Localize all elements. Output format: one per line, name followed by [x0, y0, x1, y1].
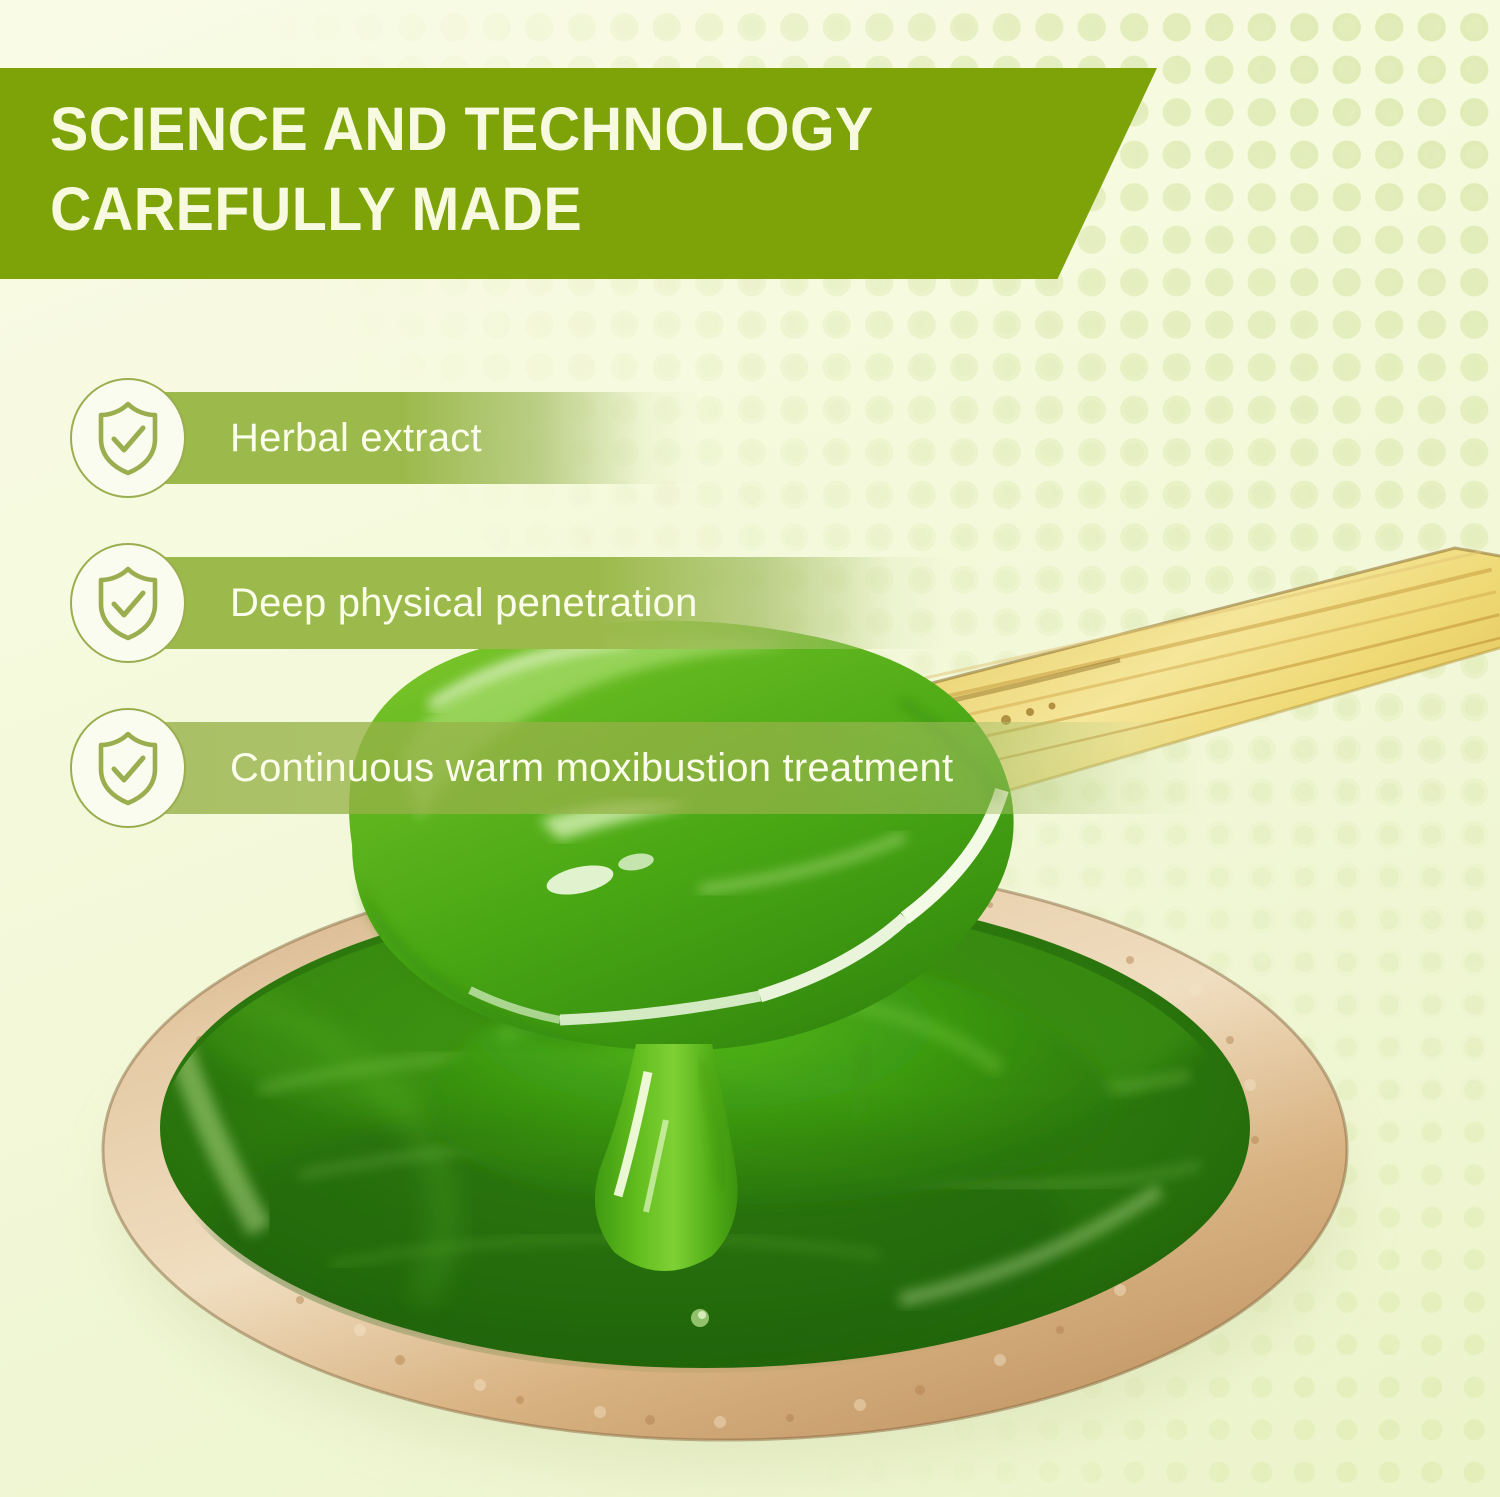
shield-check-icon [70, 543, 186, 663]
shield-check-icon [70, 378, 186, 498]
feature-item-deep-physical-penetration: Deep physical penetration [70, 543, 954, 663]
page-title: SCIENCE AND TECHNOLOGY CAREFULLY MADE [50, 89, 1037, 249]
feature-label: Deep physical penetration [230, 581, 698, 626]
feature-label-pill: Herbal extract [164, 392, 699, 484]
shield-check-icon [70, 708, 186, 828]
feature-label: Herbal extract [230, 416, 482, 461]
header-banner: SCIENCE AND TECHNOLOGY CAREFULLY MADE [0, 68, 1157, 279]
product-feature-banner: SCIENCE AND TECHNOLOGY CAREFULLY MADE He… [0, 0, 1500, 1497]
feature-label-pill: Deep physical penetration [164, 557, 954, 649]
feature-item-continuous-warm-moxibustion-treatment: Continuous warm moxibustion treatment [70, 708, 1204, 828]
feature-item-herbal-extract: Herbal extract [70, 378, 699, 498]
feature-label-pill: Continuous warm moxibustion treatment [164, 722, 1204, 814]
feature-label: Continuous warm moxibustion treatment [230, 746, 953, 791]
